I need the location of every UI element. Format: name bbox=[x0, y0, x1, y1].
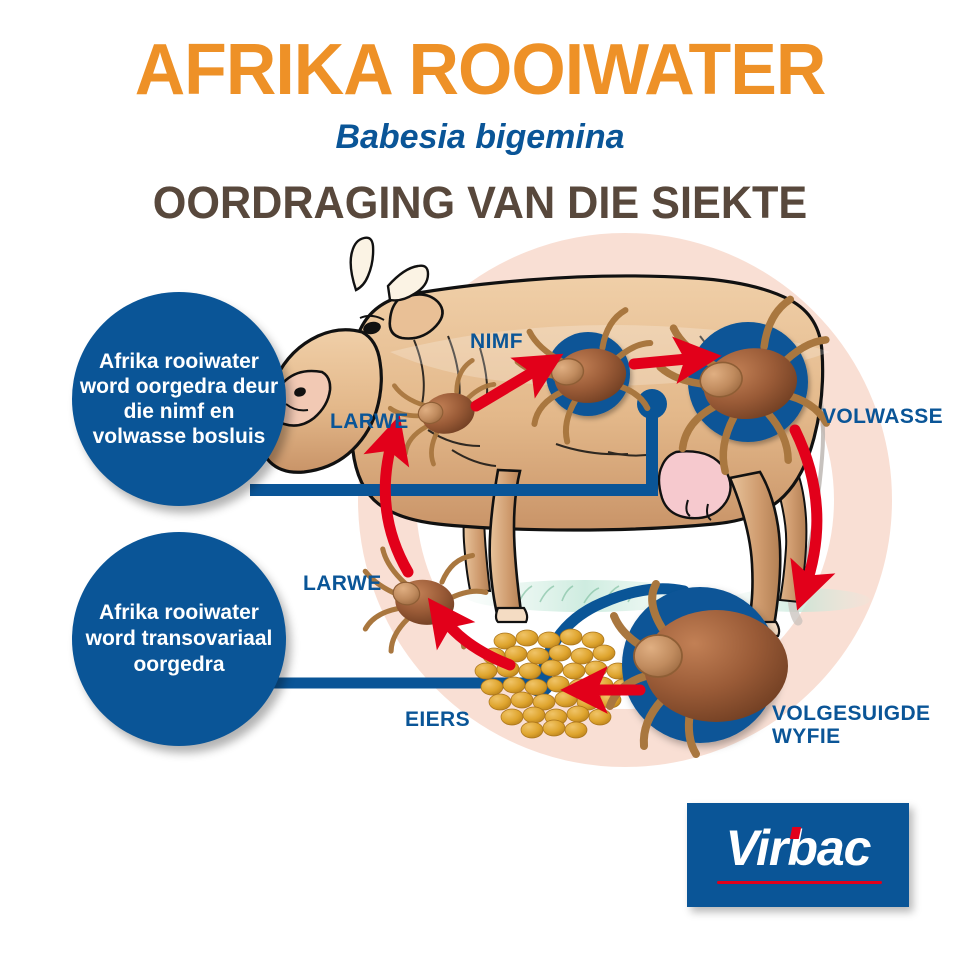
virbac-logo[interactable]: Virbac bbox=[687, 803, 909, 907]
label-adult: VOLWASSE bbox=[822, 405, 943, 428]
callout-2-text: Afrika rooiwater word transovariaal oorg… bbox=[72, 600, 286, 678]
callout-transovarial[interactable]: Afrika rooiwater word transovariaal oorg… bbox=[72, 532, 286, 746]
callout-1-text: Afrika rooiwater word oorgedra deur die … bbox=[72, 349, 286, 449]
callout-transmission-nymph-adult[interactable]: Afrika rooiwater word oorgedra deur die … bbox=[72, 292, 286, 506]
label-nymph: NIMF bbox=[470, 330, 523, 353]
label-larva-on-host: LARWE bbox=[330, 410, 409, 433]
label-eggs: EIERS bbox=[405, 708, 470, 731]
virbac-underline-rule bbox=[717, 881, 882, 884]
arrow-nymph-to-adult bbox=[634, 358, 698, 364]
infographic-poster: AFRIKA ROOIWATER Babesia bigemina OORDRA… bbox=[0, 0, 960, 960]
label-larva-hatched: LARWE bbox=[303, 572, 382, 595]
label-engorged-female: VOLGESUIGDE WYFIE bbox=[772, 702, 930, 748]
